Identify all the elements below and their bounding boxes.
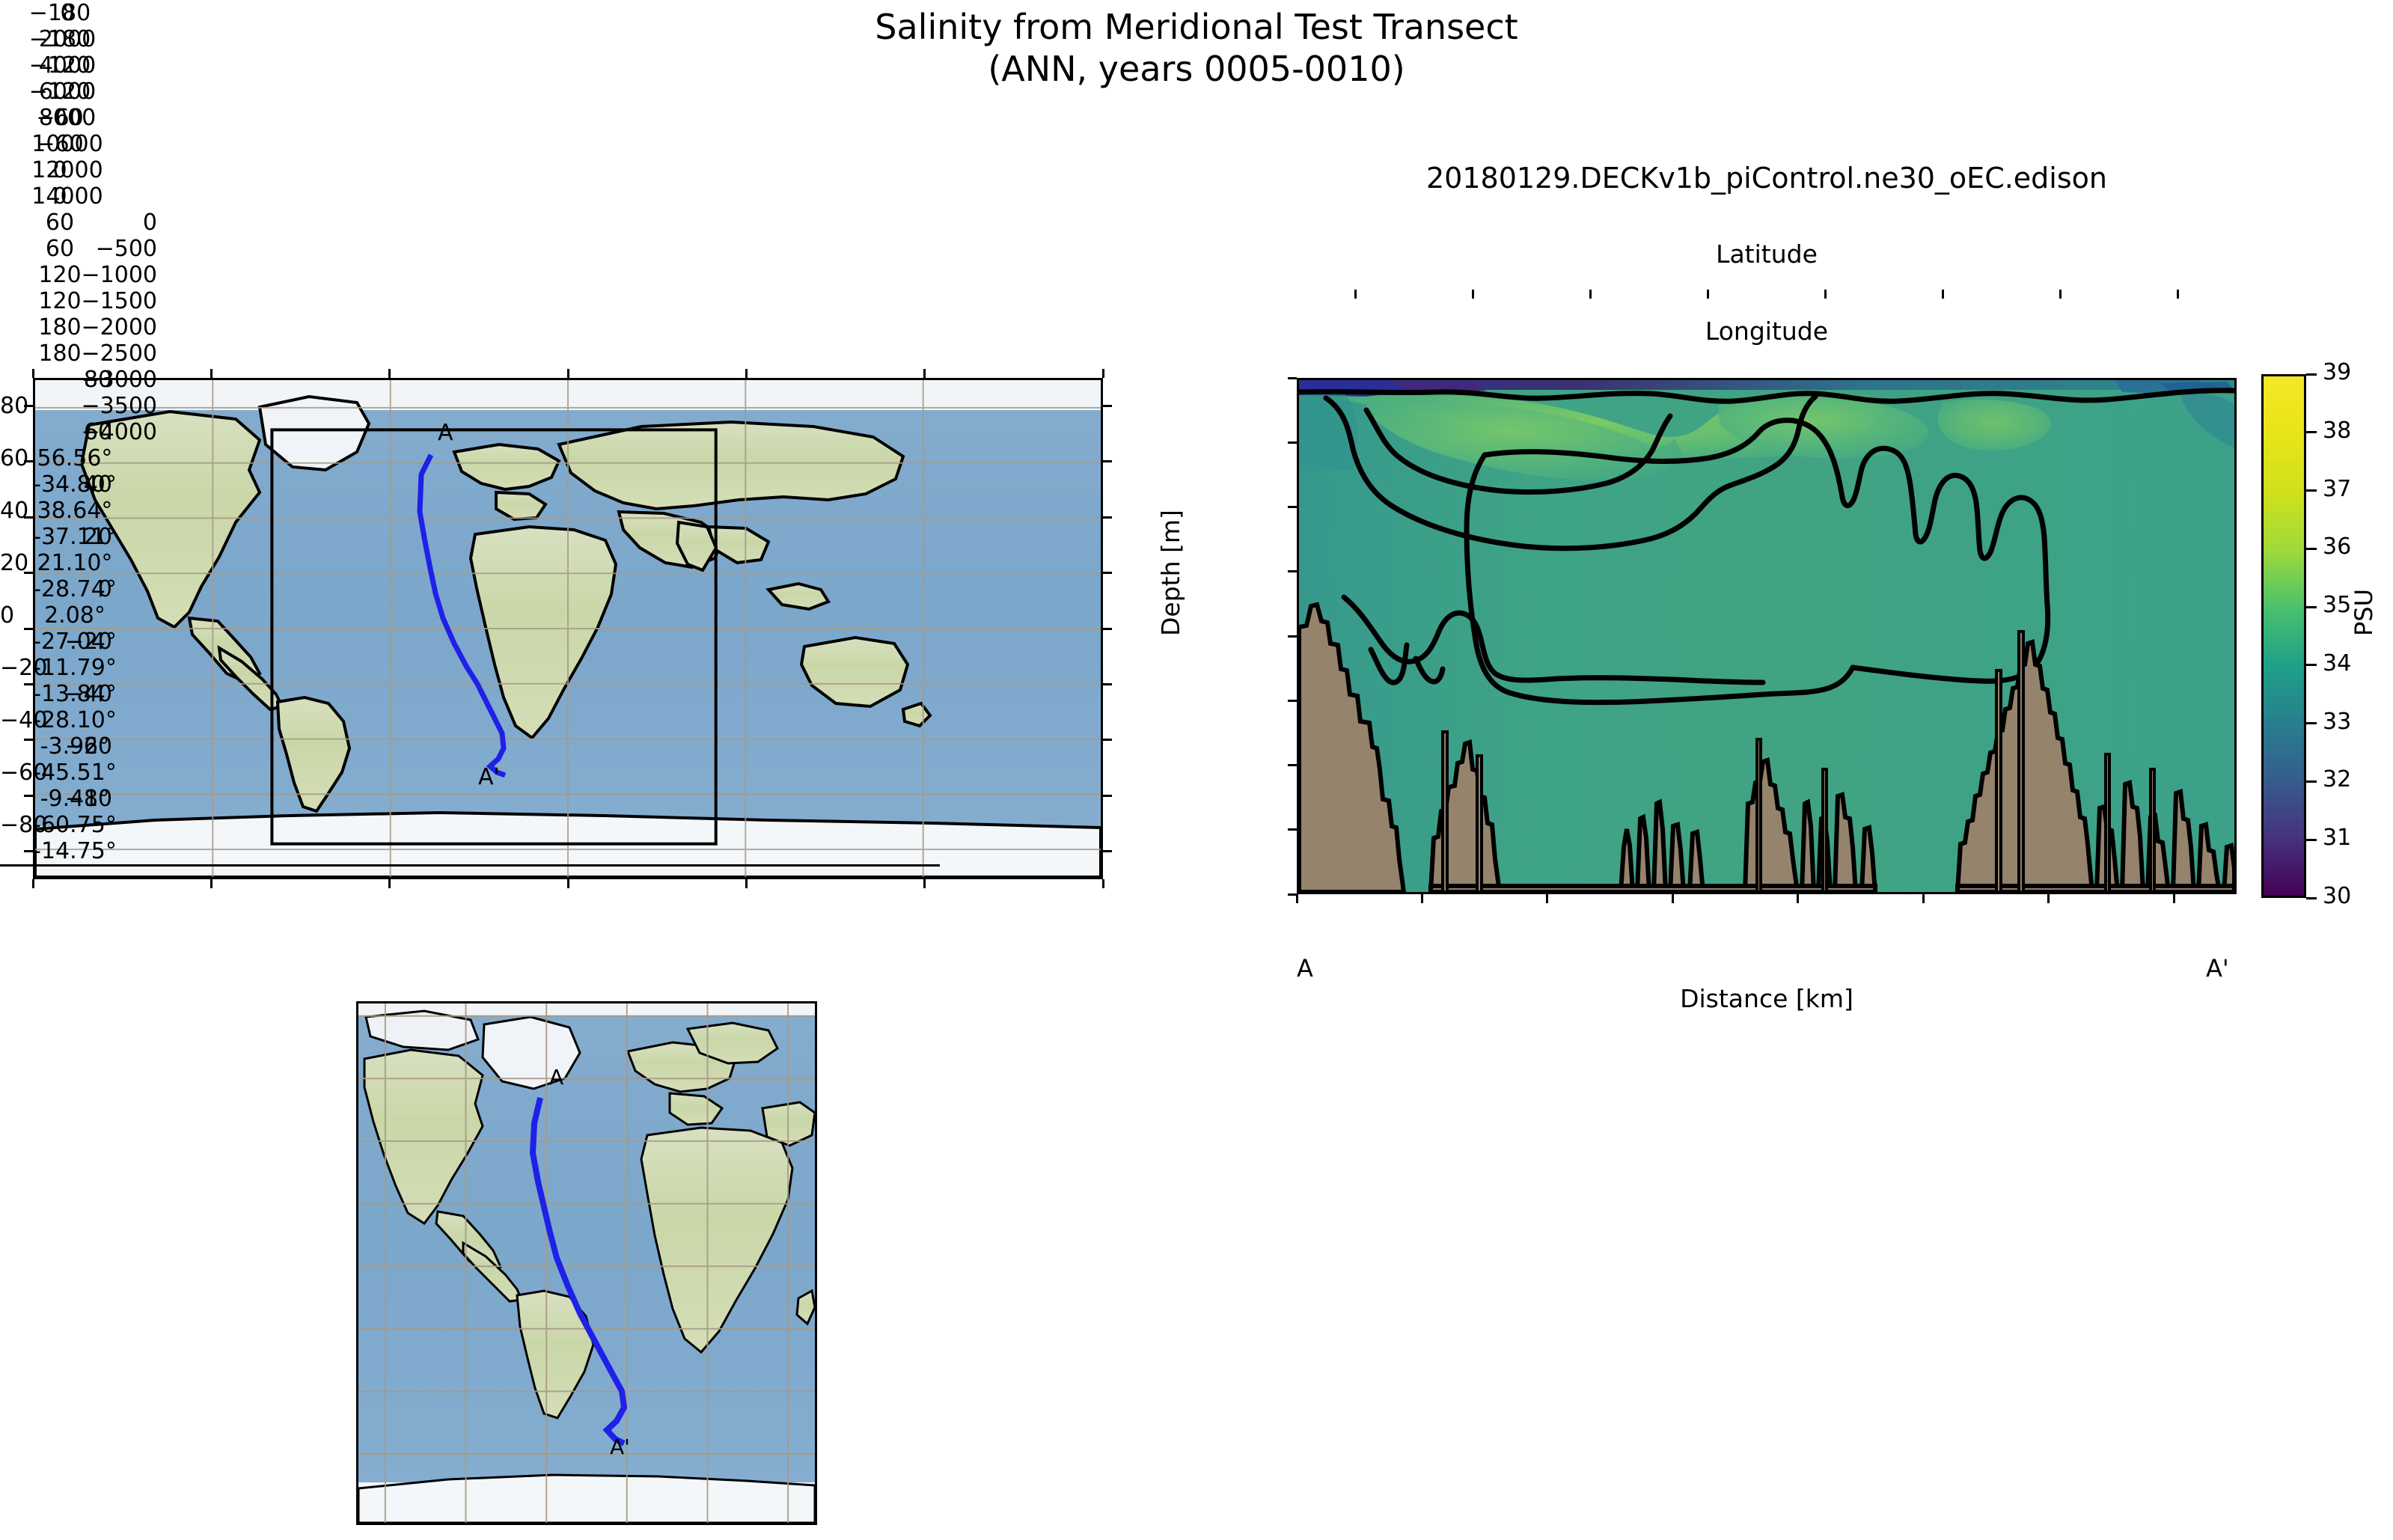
longitude-axis-label: Longitude <box>1297 317 2237 346</box>
section-latitude-tickmark <box>1942 290 1944 299</box>
section-x-ticklabel: 12000 <box>0 157 135 183</box>
colorbar-tickmark <box>2306 373 2317 376</box>
worldmap-lat-tickmark-right <box>1103 516 1112 519</box>
colorbar-ticklabel: 31 <box>2323 825 2351 851</box>
colorbar-tickmark <box>2306 489 2317 492</box>
section-x-ticklabel: 10000 <box>0 131 135 157</box>
world-map-graphic: A A' <box>35 380 1101 877</box>
worldmap-lon-tickmark-bottom <box>567 879 569 888</box>
section-y-tickmark <box>1288 377 1297 379</box>
section-x-tickmark <box>1546 894 1548 903</box>
worldmap-lat-tickmark-left <box>24 516 33 519</box>
colorbar-tickmark <box>2306 606 2317 608</box>
worldmap-lat-tickmark-left <box>24 683 33 685</box>
worldmap-lon-tickmark-top <box>388 369 391 378</box>
cross-section-panel <box>1297 378 2237 894</box>
colorbar-tickmark <box>2306 548 2317 550</box>
colorbar-title: PSU <box>2350 589 2378 636</box>
colorbar-ticklabel: 34 <box>2323 650 2351 676</box>
inset-transect-end-label: A' <box>610 1434 630 1459</box>
colorbar-ticklabel: 32 <box>2323 766 2351 792</box>
worldmap-lon-tickmark-bottom <box>32 879 34 888</box>
worldmap-lon-tickmark-top <box>1102 369 1104 378</box>
inset-map-frame: A A' <box>356 1001 817 1525</box>
worldmap-lon-ticklabel-top: 180 <box>0 314 120 340</box>
section-x-tickmark <box>1797 894 1799 903</box>
colorbar-ticklabel: 36 <box>2323 534 2351 560</box>
section-x-tickmark <box>1672 894 1674 903</box>
worldmap-lat-tickmark-left <box>24 460 33 462</box>
worldmap-lat-tickmark-right <box>1103 460 1112 462</box>
section-x-tickmark <box>1296 894 1298 903</box>
section-x-tickmark <box>1421 894 1423 903</box>
section-y-ticklabel: −500 <box>0 236 157 262</box>
section-latitude-tickmark <box>1824 290 1827 299</box>
colorbar-ticklabel: 37 <box>2323 476 2351 502</box>
worldmap-lon-tickmark-bottom <box>210 879 213 888</box>
section-latitude-tickmark <box>1707 290 1709 299</box>
worldmap-lat-tickmark-right <box>1103 683 1112 685</box>
world-map-panel: A A' <box>33 378 1103 879</box>
section-y-ticklabel: −1500 <box>0 288 157 314</box>
worldmap-lon-tickmark-bottom <box>388 879 391 888</box>
colorbar-panel <box>2261 374 2306 898</box>
section-latitude-tickmark <box>1354 290 1357 299</box>
section-y-ticklabel: −1000 <box>0 262 157 288</box>
worldmap-lat-tickmark-left <box>24 405 33 407</box>
section-x-ticklabel: 8000 <box>0 105 135 131</box>
worldmap-lon-tickmark-top <box>32 369 34 378</box>
salinity-section-graphic <box>1299 380 2234 892</box>
colorbar-tickmark <box>2306 431 2317 433</box>
section-y-tickmark <box>1288 441 1297 444</box>
worldmap-lon-ticklabel-bottom: 120 <box>0 288 120 314</box>
worldmap-lon-tickmark-top <box>745 369 748 378</box>
colorbar-ticklabel: 30 <box>2323 883 2351 909</box>
inset-transect-start-label: A <box>549 1065 563 1090</box>
inset-map-panel: A A' <box>356 1001 817 1525</box>
section-y-tickmark <box>1288 828 1297 831</box>
colorbar-ticklabel: 35 <box>2323 592 2351 618</box>
section-x-ticklabel: 14000 <box>0 183 135 210</box>
worldmap-lat-tickmark-right <box>1103 405 1112 407</box>
worldmap-lon-ticklabel-top: −60 <box>0 105 120 131</box>
section-y-tickmark <box>1288 700 1297 702</box>
section-x-tickmark <box>1922 894 1925 903</box>
section-y-tickmark <box>1288 506 1297 508</box>
worldmap-lat-tickmark-left <box>24 628 33 630</box>
worldmap-lat-tickmark-right <box>1103 628 1112 630</box>
worldmap-lat-tickmark-left <box>24 795 33 797</box>
colorbar-ticklabel: 38 <box>2323 418 2351 444</box>
worldmap-lon-tickmark-bottom <box>923 879 926 888</box>
run-name-subtitle: 20180129.DECKv1b_piControl.ne30_oEC.edis… <box>1297 162 2237 195</box>
worldmap-lon-ticklabel-top: 120 <box>0 262 120 288</box>
worldmap-lon-ticklabel-bottom: 60 <box>0 236 120 262</box>
section-y-tickmark <box>1288 764 1297 766</box>
colorbar-tickmark <box>2306 780 2317 783</box>
worldmap-lat-tickmark-right <box>1103 739 1112 741</box>
colorbar-ticklabel: 39 <box>2323 359 2351 385</box>
worldmap-lon-ticklabel-bottom: 180 <box>0 340 120 367</box>
worldmap-lat-tickmark-right <box>1103 795 1112 797</box>
worldmap-lat-tickmark-left <box>24 739 33 741</box>
section-x-tickmark <box>2173 894 2175 903</box>
section-latitude-tickmark <box>2059 290 2062 299</box>
colorbar-ticklabel: 33 <box>2323 709 2351 735</box>
figure-title: Salinity from Meridional Test Transect (… <box>0 6 2393 90</box>
worldmap-lon-ticklabel-bottom: −60 <box>0 131 120 157</box>
section-y-ticklabel: −2000 <box>0 314 157 340</box>
cross-section-frame <box>1297 378 2237 894</box>
worldmap-lon-ticklabel-bottom: 0 <box>0 183 120 210</box>
section-y-tickmark <box>1288 570 1297 572</box>
cross-section-xlabel: Distance [km] <box>1297 984 2237 1013</box>
worldmap-lat-tickmark-left <box>24 850 33 852</box>
worldmap-lat-tickmark-left <box>24 572 33 574</box>
worldmap-lat-tickmark-right <box>1103 850 1112 852</box>
section-y-ticklabel: −2500 <box>0 340 157 367</box>
worldmap-lon-ticklabel-top: 0 <box>0 157 120 183</box>
section-latitude-tickmark <box>2177 290 2179 299</box>
section-x-tickmark <box>2047 894 2050 903</box>
colorbar-tickmark <box>2306 839 2317 841</box>
worldmap-lon-tickmark-bottom <box>1102 879 1104 888</box>
section-y-tickmark <box>1288 893 1297 896</box>
worldmap-lon-tickmark-top <box>923 369 926 378</box>
transect-start-label: A <box>438 420 453 446</box>
section-start-marker: A <box>1297 954 1313 983</box>
colorbar-tickmark <box>2306 664 2317 666</box>
world-map-frame: A A' <box>33 378 1103 879</box>
worldmap-lon-tickmark-bottom <box>745 879 748 888</box>
worldmap-lon-tickmark-top <box>567 369 569 378</box>
section-latitude-tickmark <box>1472 290 1474 299</box>
figure-title-line2: (ANN, years 0005-0010) <box>0 48 2393 90</box>
worldmap-lon-ticklabel-top: 60 <box>0 210 120 236</box>
worldmap-lat-tickmark-right <box>1103 572 1112 574</box>
transect-end-label: A' <box>478 764 500 790</box>
colorbar-tickmark <box>2306 722 2317 724</box>
cross-section-ylabel: Depth [m] <box>1156 510 1185 636</box>
figure-title-line1: Salinity from Meridional Test Transect <box>0 6 2393 48</box>
section-y-ticklabel: 0 <box>0 210 157 236</box>
section-latitude-tickmark <box>1589 290 1592 299</box>
colorbar-tickmark <box>2306 897 2317 899</box>
section-end-marker: A' <box>2206 954 2229 983</box>
worldmap-lon-tickmark-top <box>210 369 213 378</box>
inset-map-graphic: A A' <box>358 1003 815 1523</box>
colorbar-gradient <box>2261 374 2306 898</box>
section-y-tickmark <box>1288 635 1297 638</box>
latitude-axis-label: Latitude <box>1297 239 2237 269</box>
